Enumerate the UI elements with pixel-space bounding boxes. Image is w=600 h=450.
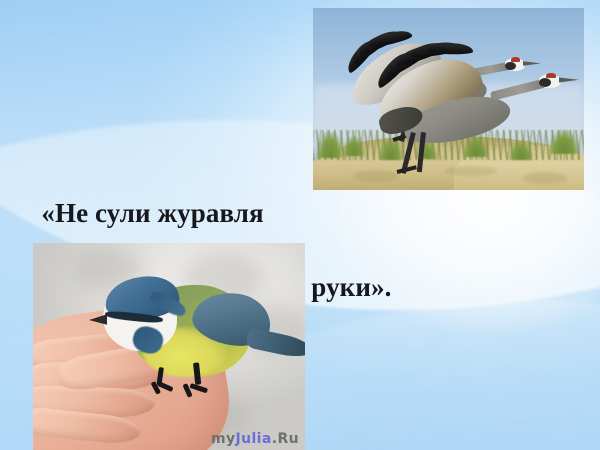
watermark-part-ru: .Ru xyxy=(272,431,299,447)
crane-head-marking xyxy=(539,78,551,87)
watermark-part-julia: Julia xyxy=(236,431,272,447)
blue-tit-bird xyxy=(97,271,297,401)
bird-tail xyxy=(245,327,305,360)
crane-bird-front xyxy=(349,44,539,166)
watermark-part-my: my xyxy=(211,431,236,447)
proverb-line-1: «Не сули журавля xyxy=(41,198,263,228)
bird-claw xyxy=(189,383,208,393)
crane-red-crown xyxy=(546,73,556,78)
watermark-myjulia: myJulia.Ru xyxy=(211,431,299,447)
blue-tit-photo: myJulia.Ru xyxy=(33,243,305,450)
crane-neck xyxy=(490,79,547,101)
grass-tuft xyxy=(549,130,579,154)
sand-texture xyxy=(523,172,567,184)
presentation-slide: «Не сули журавля в небе, а дай синицу в … xyxy=(0,0,600,450)
